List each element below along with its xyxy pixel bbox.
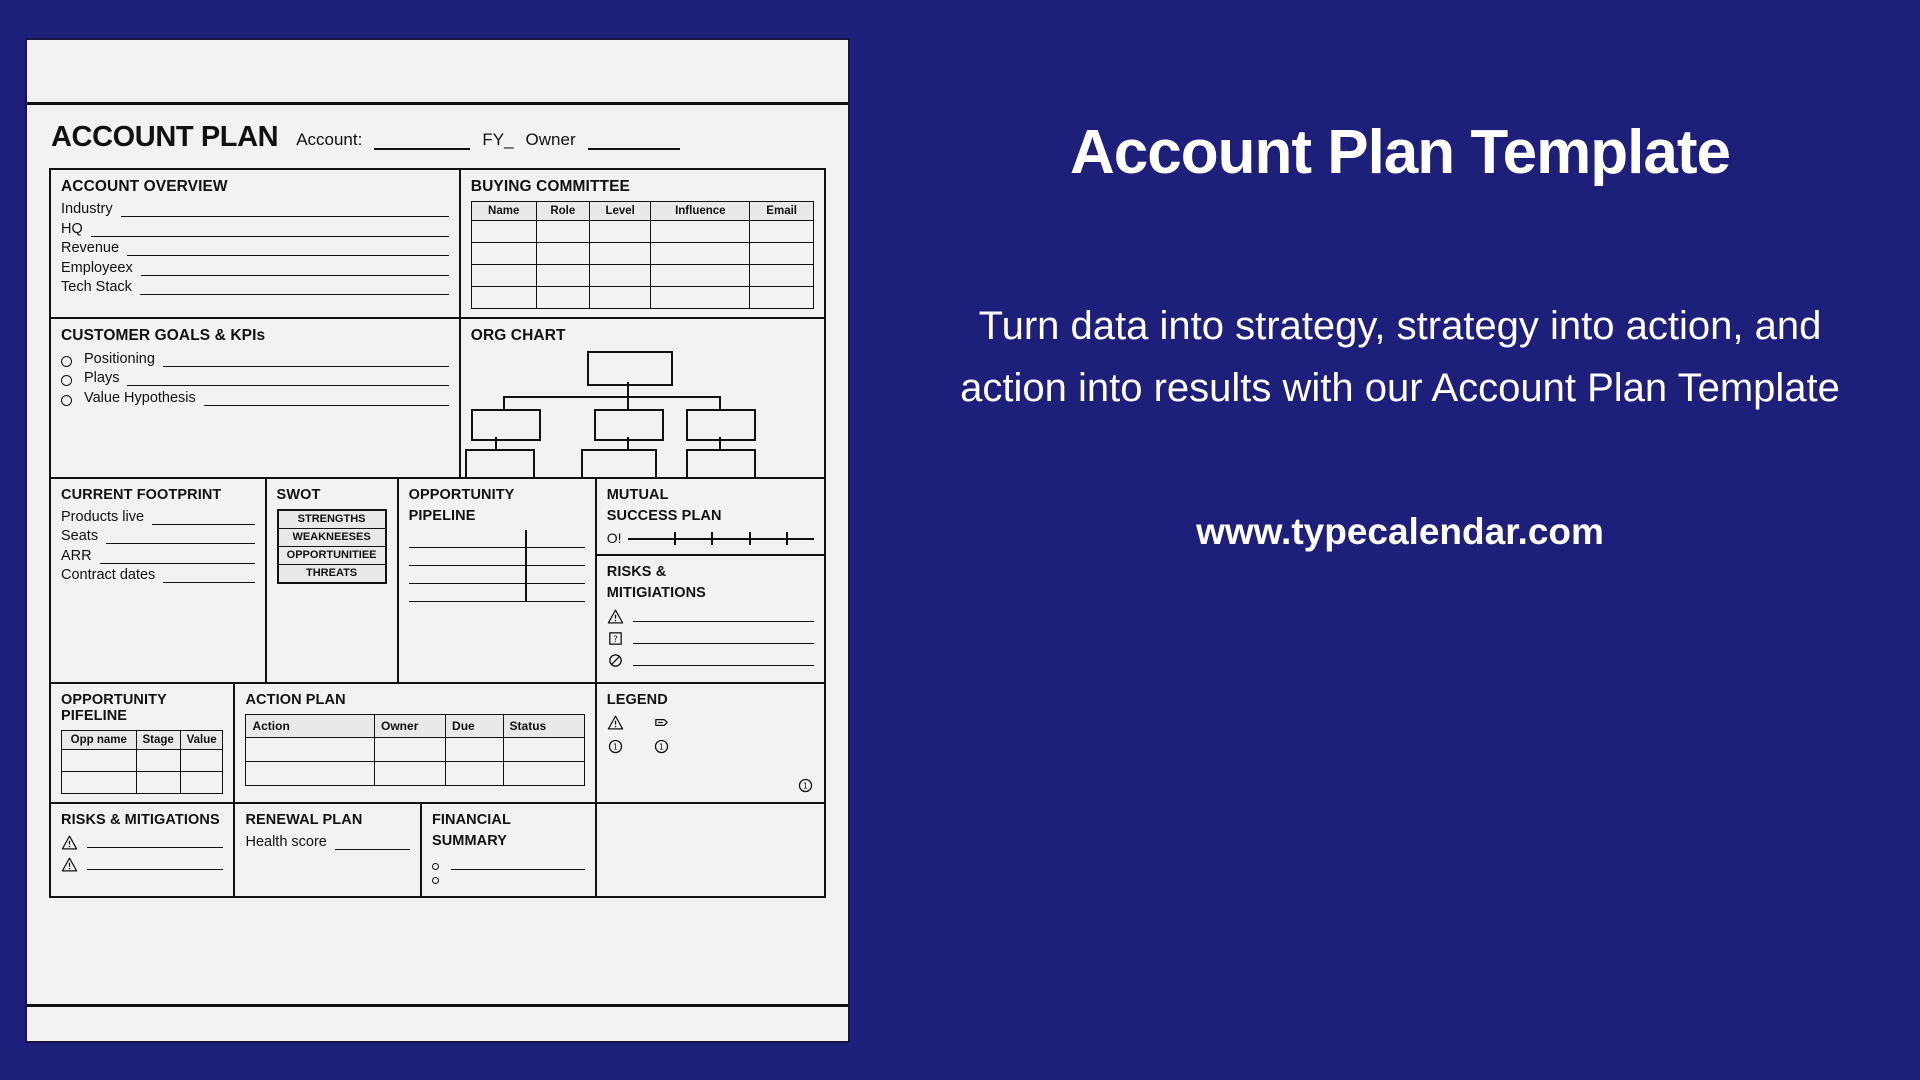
write-line[interactable] xyxy=(141,264,449,276)
swot-heading: SWOT xyxy=(277,487,387,503)
opportunity-pipeline-table-heading: OPPORTUNITY PIFELINE xyxy=(61,692,223,724)
column-header-influence: Influence xyxy=(651,202,750,221)
action-plan-table[interactable]: Action Owner Due Status xyxy=(245,714,584,786)
write-line[interactable] xyxy=(127,374,448,386)
page-title: ACCOUNT PLAN xyxy=(51,123,278,152)
swot-weaknesses[interactable]: WEAKNEESES xyxy=(279,529,385,547)
mutual-success-heading-line1: MUTUAL xyxy=(607,487,814,503)
table-row[interactable] xyxy=(246,761,584,785)
org-chart-diagram xyxy=(471,351,814,469)
action-plan-heading: ACTION PLAN xyxy=(245,692,584,708)
sheet-body: ACCOUNT PLAN Account: FY_ Owner ACCOUNT … xyxy=(27,105,848,1004)
mutual-success-plan-section: MUTUAL SUCCESS PLAN O! xyxy=(597,479,826,556)
column-header-email: Email xyxy=(750,202,814,221)
org-node-level2[interactable] xyxy=(594,409,664,441)
milestone-tick[interactable] xyxy=(711,532,713,545)
promo-subtitle: Turn data into strategy, strategy into a… xyxy=(950,295,1850,419)
cell[interactable] xyxy=(503,737,584,761)
field-positioning[interactable]: Positioning xyxy=(61,351,449,367)
financial-summary-section: FINANCIAL SUMMARY xyxy=(422,804,597,897)
org-node-level3[interactable] xyxy=(686,449,756,479)
column-header-due: Due xyxy=(446,714,504,737)
document-meta: Account: FY_ Owner xyxy=(296,130,679,152)
table-header-row: Action Owner Due Status xyxy=(246,714,584,737)
cell[interactable] xyxy=(375,761,446,785)
account-label: Account: xyxy=(296,130,362,150)
field-revenue[interactable]: Revenue xyxy=(61,240,449,256)
field-plays[interactable]: Plays xyxy=(61,370,449,386)
org-node-level2[interactable] xyxy=(686,409,756,441)
cell[interactable] xyxy=(471,243,536,265)
mutual-success-heading-line2: SUCCESS PLAN xyxy=(607,508,814,524)
svg-text:1: 1 xyxy=(803,782,808,791)
promo-title: Account Plan Template xyxy=(1070,120,1730,185)
number-one-circle-icon[interactable]: 1 xyxy=(607,738,624,755)
field-label: Industry xyxy=(61,201,113,217)
cell[interactable] xyxy=(750,265,814,287)
field-hq[interactable]: HQ xyxy=(61,221,449,237)
write-line[interactable] xyxy=(163,355,449,367)
cell[interactable] xyxy=(536,221,589,243)
field-label: Products live xyxy=(61,509,144,525)
row-risks-renewal-financial: RISKS & MITIGATIONS RENEWAL PLAN Health … xyxy=(49,804,826,897)
table-row[interactable] xyxy=(471,243,813,265)
svg-text:1: 1 xyxy=(613,742,618,751)
write-line[interactable] xyxy=(87,859,223,870)
cell[interactable] xyxy=(375,737,446,761)
risks-mitigations-bottom-section: RISKS & MITIGATIONS xyxy=(49,804,235,897)
org-connector xyxy=(503,396,505,410)
column-header-level: Level xyxy=(589,202,650,221)
risk-entry[interactable] xyxy=(61,834,223,851)
warning-triangle-icon xyxy=(607,608,624,625)
column-divider xyxy=(525,530,527,602)
write-line[interactable] xyxy=(451,858,585,870)
write-line[interactable] xyxy=(409,530,585,548)
opportunity-pipeline-heading-line2: PIPELINE xyxy=(409,508,585,524)
table-body xyxy=(471,221,813,309)
column-header-role: Role xyxy=(536,202,589,221)
cell[interactable] xyxy=(180,772,223,794)
cell[interactable] xyxy=(62,750,137,772)
field-industry[interactable]: Industry xyxy=(61,201,449,217)
table-row[interactable] xyxy=(471,287,813,309)
risk-entry[interactable] xyxy=(607,608,814,625)
field-label: ARR xyxy=(61,548,92,564)
account-plan-sheet: ACCOUNT PLAN Account: FY_ Owner ACCOUNT … xyxy=(25,38,850,1043)
cell[interactable] xyxy=(651,243,750,265)
field-health-score[interactable]: Health score xyxy=(245,834,409,850)
legend-icon-grid: 1 1 xyxy=(607,714,814,755)
write-line[interactable] xyxy=(121,205,449,217)
column-header-stage: Stage xyxy=(136,731,180,750)
cell[interactable] xyxy=(589,243,650,265)
write-line[interactable] xyxy=(409,584,585,602)
org-connector xyxy=(627,396,629,410)
cell[interactable] xyxy=(651,221,750,243)
field-products-live[interactable]: Products live xyxy=(61,509,255,525)
swot-threats[interactable]: THREATS xyxy=(279,565,385,582)
field-value-hypothesis[interactable]: Value Hypothesis xyxy=(61,390,449,406)
cell[interactable] xyxy=(471,265,536,287)
cell[interactable] xyxy=(536,265,589,287)
account-overview-section: ACCOUNT OVERVIEW Industry HQ Revenue Emp… xyxy=(49,168,461,319)
column-header-action: Action xyxy=(246,714,375,737)
milestone-tick[interactable] xyxy=(674,532,676,545)
risks-right-heading-line2: MITIGIATIONS xyxy=(607,585,814,601)
write-line[interactable] xyxy=(409,548,585,566)
column-header-name: Name xyxy=(471,202,536,221)
cell[interactable] xyxy=(536,243,589,265)
write-line[interactable] xyxy=(152,513,255,525)
question-box-icon: ? xyxy=(607,630,624,647)
small-dot-icon xyxy=(432,877,439,884)
org-node-level3[interactable] xyxy=(581,449,657,479)
small-dot-icon xyxy=(432,863,439,870)
field-seats[interactable]: Seats xyxy=(61,528,255,544)
financial-summary-heading-line1: FINANCIAL xyxy=(432,812,585,828)
org-connector xyxy=(627,382,629,397)
swot-opportunities[interactable]: OPPORTUNITIEE xyxy=(279,547,385,565)
promo-url[interactable]: www.typecalendar.com xyxy=(1196,511,1604,553)
buying-committee-table[interactable]: Name Role Level Influence Email xyxy=(471,201,814,309)
field-label: Health score xyxy=(245,834,326,850)
opportunity-pipeline-table-section: OPPORTUNITY PIFELINE Opp name Stage Valu… xyxy=(49,684,235,804)
field-arr[interactable]: ARR xyxy=(61,548,255,564)
current-footprint-section: CURRENT FOOTPRINT Products live Seats AR… xyxy=(49,479,267,684)
org-chart-section: ORG CHART xyxy=(461,319,826,478)
cell[interactable] xyxy=(589,221,650,243)
row-pipeline-action-legend: OPPORTUNITY PIFELINE Opp name Stage Valu… xyxy=(49,684,826,804)
circle-bullet-icon xyxy=(61,356,72,367)
cell[interactable] xyxy=(750,287,814,309)
field-label: Contract dates xyxy=(61,567,155,583)
risks-bottom-heading: RISKS & MITIGATIONS xyxy=(61,812,223,828)
milestone-marker-label: O! xyxy=(607,530,622,546)
table-header-row: Name Role Level Influence Email xyxy=(471,202,813,221)
circle-bullet-icon xyxy=(61,395,72,406)
blocked-icon xyxy=(607,652,624,669)
write-line[interactable] xyxy=(100,552,255,564)
write-line[interactable] xyxy=(633,611,814,622)
column-header-opp-name: Opp name xyxy=(62,731,137,750)
circle-bullet-icon xyxy=(61,375,72,386)
right-stack-upper: MUTUAL SUCCESS PLAN O! xyxy=(597,479,826,684)
org-chart-heading: ORG CHART xyxy=(471,327,814,344)
table-row[interactable] xyxy=(471,221,813,243)
table-row[interactable] xyxy=(246,737,584,761)
account-overview-heading: ACCOUNT OVERVIEW xyxy=(61,178,449,195)
sheet-top-band xyxy=(27,40,848,105)
financial-entry[interactable] xyxy=(432,858,585,870)
write-line[interactable] xyxy=(140,283,449,295)
cell[interactable] xyxy=(62,772,137,794)
field-label: Value Hypothesis xyxy=(84,390,196,406)
org-connector xyxy=(719,396,721,410)
column-header-value: Value xyxy=(180,731,223,750)
cell[interactable] xyxy=(180,750,223,772)
opportunity-pipeline-table[interactable]: Opp name Stage Value xyxy=(61,730,223,794)
buying-committee-heading: BUYING COMMITTEE xyxy=(471,178,814,195)
warning-triangle-icon[interactable] xyxy=(607,714,624,731)
legend-section: LEGEND 1 1 1 xyxy=(597,684,826,804)
table-body xyxy=(246,737,584,785)
current-footprint-heading: CURRENT FOOTPRINT xyxy=(61,487,255,503)
financial-entry[interactable] xyxy=(432,873,585,884)
table-row[interactable] xyxy=(62,750,223,772)
tag-icon[interactable] xyxy=(653,714,670,731)
risk-entry[interactable]: ? xyxy=(607,630,814,647)
svg-text:1: 1 xyxy=(659,742,664,751)
field-label: Revenue xyxy=(61,240,119,256)
customer-goals-section: CUSTOMER GOALS & KPIs Positioning Plays … xyxy=(49,319,461,478)
field-label: Tech Stack xyxy=(61,279,132,295)
org-node-level2[interactable] xyxy=(471,409,541,441)
action-plan-section: ACTION PLAN Action Owner Due Status xyxy=(235,684,596,804)
field-label: HQ xyxy=(61,221,83,237)
write-line[interactable] xyxy=(127,244,449,256)
owner-label: Owner xyxy=(526,130,576,150)
renewal-plan-heading: RENEWAL PLAN xyxy=(245,812,409,828)
opportunity-pipeline-heading-line1: OPPORTUNITY xyxy=(409,487,585,503)
renewal-plan-section: RENEWAL PLAN Health score xyxy=(235,804,421,897)
table-row[interactable] xyxy=(62,772,223,794)
legend-heading: LEGEND xyxy=(607,692,814,708)
write-line[interactable] xyxy=(335,838,410,850)
financial-summary-heading-line2: SUMMARY xyxy=(432,833,585,849)
field-label: Positioning xyxy=(84,351,155,367)
poster-canvas: ACCOUNT PLAN Account: FY_ Owner ACCOUNT … xyxy=(0,0,1920,1080)
cell[interactable] xyxy=(651,265,750,287)
swot-strengths[interactable]: STRENGTHS xyxy=(279,511,385,529)
fy-label: FY_ xyxy=(482,130,513,150)
field-label: Employeex xyxy=(61,260,133,276)
cell[interactable] xyxy=(246,761,375,785)
svg-text:?: ? xyxy=(613,635,618,645)
table-header-row: Opp name Stage Value xyxy=(62,731,223,750)
owner-input[interactable] xyxy=(588,136,680,150)
account-input[interactable] xyxy=(374,136,470,150)
field-label: Plays xyxy=(84,370,119,386)
column-header-owner: Owner xyxy=(375,714,446,737)
cell[interactable] xyxy=(651,287,750,309)
swot-list: STRENGTHS WEAKNEESES OPPORTUNITIEE THREA… xyxy=(277,509,387,584)
write-line[interactable] xyxy=(409,566,585,584)
table-body xyxy=(62,750,223,794)
legend-spacer xyxy=(597,804,826,897)
cell[interactable] xyxy=(136,750,180,772)
cell[interactable] xyxy=(589,287,650,309)
opportunity-pipeline-lined-section: OPPORTUNITY PIPELINE xyxy=(399,479,597,684)
milestone-tick[interactable] xyxy=(786,532,788,545)
write-line[interactable] xyxy=(633,655,814,666)
warning-triangle-icon xyxy=(61,856,78,873)
swot-section: SWOT STRENGTHS WEAKNEESES OPPORTUNITIEE … xyxy=(267,479,399,684)
risks-mitigations-right-section: RISKS & MITIGIATIONS ? xyxy=(597,556,826,683)
write-line[interactable] xyxy=(87,837,223,848)
field-contract-dates[interactable]: Contract dates xyxy=(61,567,255,583)
cell[interactable] xyxy=(589,265,650,287)
write-line[interactable] xyxy=(451,873,585,884)
promo-panel: Account Plan Template Turn data into str… xyxy=(880,0,1920,1080)
cell[interactable] xyxy=(246,737,375,761)
write-line[interactable] xyxy=(204,394,449,406)
row-goals-orgchart: CUSTOMER GOALS & KPIs Positioning Plays … xyxy=(49,319,826,478)
cell[interactable] xyxy=(446,737,504,761)
cell[interactable] xyxy=(503,761,584,785)
org-node-root[interactable] xyxy=(587,351,673,386)
table-row[interactable] xyxy=(471,265,813,287)
document-header: ACCOUNT PLAN Account: FY_ Owner xyxy=(49,119,826,168)
org-connector xyxy=(503,396,721,398)
row-footprint-swot-pipeline: CURRENT FOOTPRINT Products live Seats AR… xyxy=(49,479,826,684)
cell[interactable] xyxy=(471,221,536,243)
cell[interactable] xyxy=(136,772,180,794)
milestone-ruler[interactable]: O! xyxy=(607,530,814,546)
milestone-tick[interactable] xyxy=(749,532,751,545)
field-employees[interactable]: Employeex xyxy=(61,260,449,276)
risk-entry[interactable] xyxy=(61,856,223,873)
field-tech-stack[interactable]: Tech Stack xyxy=(61,279,449,295)
cell[interactable] xyxy=(471,287,536,309)
cell[interactable] xyxy=(750,243,814,265)
milestone-track[interactable] xyxy=(628,531,814,545)
org-node-level3[interactable] xyxy=(465,449,535,479)
write-line[interactable] xyxy=(633,633,814,644)
opportunity-pipeline-lines[interactable] xyxy=(409,530,585,602)
write-line[interactable] xyxy=(91,225,449,237)
number-one-circle-icon[interactable]: 1 xyxy=(653,738,670,755)
risks-right-heading-line1: RISKS & xyxy=(607,564,814,580)
column-header-status: Status xyxy=(503,714,584,737)
sheet-bottom-band xyxy=(27,1004,848,1041)
risk-entry[interactable] xyxy=(607,652,814,669)
field-label: Seats xyxy=(61,528,98,544)
customer-goals-heading: CUSTOMER GOALS & KPIs xyxy=(61,327,449,344)
write-line[interactable] xyxy=(106,532,254,544)
row-overview-committee: ACCOUNT OVERVIEW Industry HQ Revenue Emp… xyxy=(49,168,826,319)
number-one-circle-icon[interactable]: 1 xyxy=(797,777,814,794)
warning-triangle-icon xyxy=(61,834,78,851)
write-line[interactable] xyxy=(163,571,254,583)
cell[interactable] xyxy=(536,287,589,309)
cell[interactable] xyxy=(446,761,504,785)
buying-committee-section: BUYING COMMITTEE Name Role Level Influen… xyxy=(461,168,826,319)
cell[interactable] xyxy=(750,221,814,243)
